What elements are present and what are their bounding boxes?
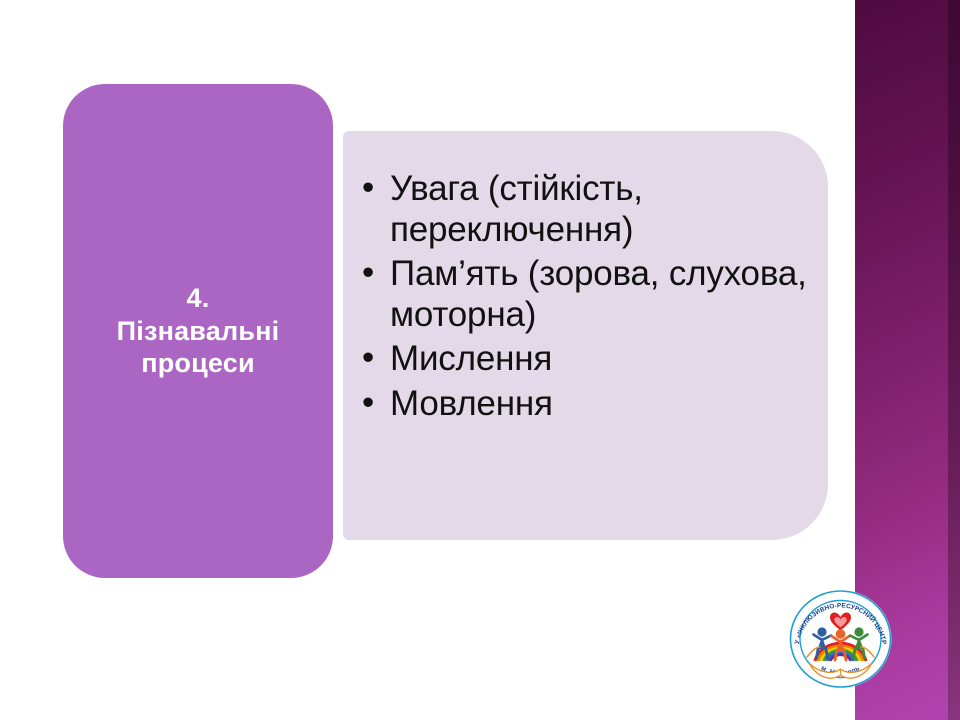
title-number: 4.	[117, 282, 280, 315]
band-edge-strip	[948, 0, 960, 720]
title-line-1: Пізнавальні	[117, 315, 280, 348]
title-card: 4. Пізнавальні процеси	[63, 84, 333, 578]
list-item: Пам’ять (зорова, слухова, моторна)	[356, 254, 812, 335]
list-item: Увага (стійкість, переключення)	[356, 169, 812, 250]
title-line-2: процеси	[117, 347, 280, 380]
bullet-list: Увага (стійкість, переключення) Пам’ять …	[356, 169, 812, 425]
content-panel: Увага (стійкість, переключення) Пам’ять …	[343, 131, 828, 540]
list-item: Мовлення	[356, 384, 812, 425]
title-card-text: 4. Пізнавальні процеси	[117, 282, 280, 381]
slide-canvas: 4. Пізнавальні процеси Увага (стійкість,…	[0, 0, 960, 720]
list-item: Мислення	[356, 339, 812, 380]
organization-logo: КУ «ІНКЛЮЗИВНО-РЕСУРСНИЙ ЦЕНТР» м. Нікоп…	[787, 587, 894, 691]
